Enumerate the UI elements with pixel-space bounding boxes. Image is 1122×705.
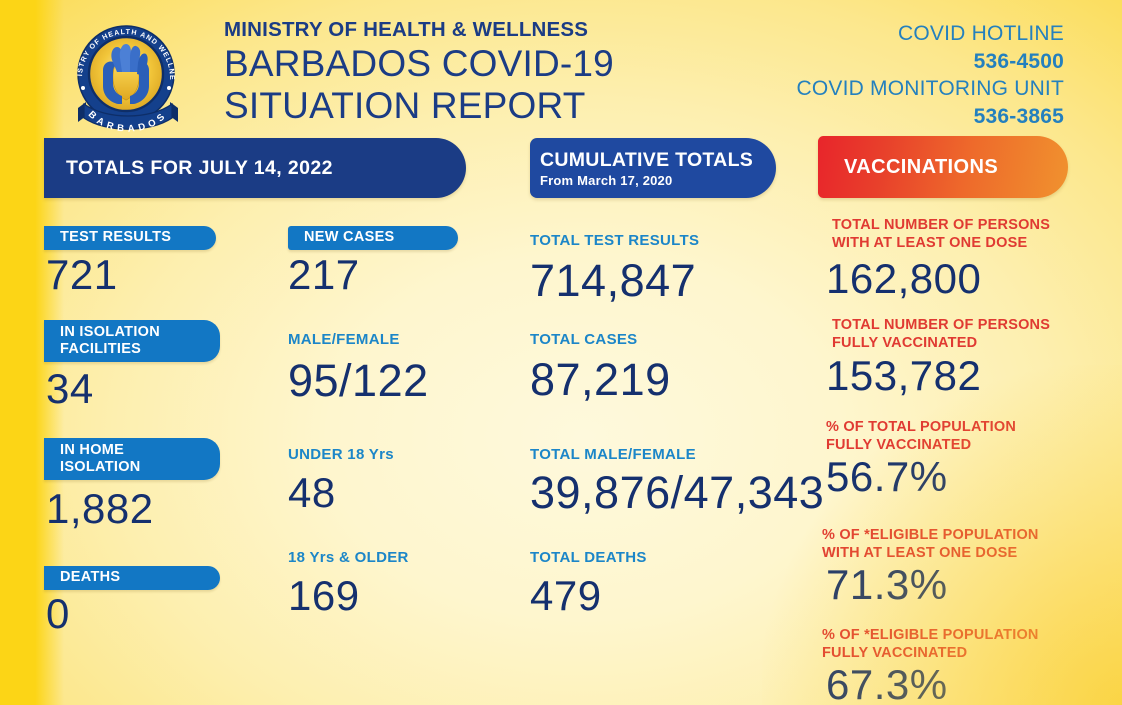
covid-hotline-number[interactable]: 536-4500 [797,48,1064,76]
stat-label-total-test-results: TOTAL TEST RESULTS [530,232,699,250]
covid-hotline-block: COVID HOTLINE 536-4500 COVID MONITORING … [797,20,1064,131]
stat-value-total-male-female: 39,876/47,343 [530,470,824,515]
stat-label-under-18: UNDER 18 Yrs [288,446,394,464]
vax-label-line-2: WITH AT LEAST ONE DOSE [832,234,1050,252]
stat-value-total-test-results: 714,847 [530,258,696,303]
banner-vaccinations: VACCINATIONS [818,136,1068,198]
ministry-name: MINISTRY OF HEALTH & WELLNESS [224,18,784,42]
stat-value-in-isolation-facilities: 34 [46,368,94,410]
stat-value-deaths: 0 [46,593,70,635]
stat-label-test-results: TEST RESULTS [44,226,216,250]
banner-vaccinations-label: VACCINATIONS [844,156,998,179]
stat-label-total-cases: TOTAL CASES [530,331,637,349]
vax-label-line-2: WITH AT LEAST ONE DOSE [822,544,1039,562]
stat-label-18-and-older: 18 Yrs & OLDER [288,549,409,567]
vax-label-line-2: FULLY VACCINATED [832,334,1050,352]
covid-hotline-label: COVID HOTLINE [797,20,1064,48]
stat-value-total-cases: 87,219 [530,357,671,402]
stat-label-new-cases: NEW CASES [288,226,458,250]
vax-label-pct-eligible-fully: % OF *ELIGIBLE POPULATION FULLY VACCINAT… [822,626,1039,662]
stat-label-text-line-2: FACILITIES [60,341,206,358]
vax-label-line-1: % OF *ELIGIBLE POPULATION [822,526,1039,544]
stat-label-text-line-2: ISOLATION [60,459,206,476]
vax-value-pct-eligible-fully: 67.3% [826,664,948,705]
page-title-line-2: SITUATION REPORT [224,85,784,126]
header-titles: MINISTRY OF HEALTH & WELLNESS BARBADOS C… [224,18,784,126]
stat-label-text: TEST RESULTS [60,229,202,246]
banner-cumulative-totals: CUMULATIVE TOTALS From March 17, 2020 [530,138,776,198]
vax-value-pct-total-population-fully: 56.7% [826,456,948,498]
vax-label-pct-eligible-one-dose: % OF *ELIGIBLE POPULATION WITH AT LEAST … [822,526,1039,562]
stat-value-test-results: 721 [46,254,118,296]
stat-value-under-18: 48 [288,472,336,514]
stat-label-total-deaths: TOTAL DEATHS [530,549,647,567]
page-title-line-1: BARBADOS COVID-19 [224,43,784,84]
vax-label-line-2: FULLY VACCINATED [822,644,1039,662]
stat-value-total-deaths: 479 [530,575,602,617]
stat-label-text-line-1: IN ISOLATION [60,324,206,341]
covid-situation-report-poster: MINISTRY OF HEALTH AND WELLNESS BARBADOS [0,0,1122,705]
stat-value-in-home-isolation: 1,882 [46,488,154,530]
stat-value-male-female: 95/122 [288,358,429,403]
banner-daily-totals-label: TOTALS FOR JULY 14, 2022 [66,157,333,180]
stat-label-in-isolation-facilities: IN ISOLATION FACILITIES [44,320,220,362]
vax-label-line-2: FULLY VACCINATED [826,436,1016,454]
vax-label-at-least-one-dose: TOTAL NUMBER OF PERSONS WITH AT LEAST ON… [832,216,1050,252]
stat-value-18-and-older: 169 [288,575,360,617]
covid-monitoring-unit-label: COVID MONITORING UNIT [797,75,1064,103]
banner-daily-totals: TOTALS FOR JULY 14, 2022 [44,138,466,198]
ministry-of-health-logo: MINISTRY OF HEALTH AND WELLNESS BARBADOS [62,16,194,140]
stat-label-text: NEW CASES [304,229,444,246]
vax-label-line-1: % OF *ELIGIBLE POPULATION [822,626,1039,644]
banner-cumulative-title: CUMULATIVE TOTALS [540,149,753,172]
stat-label-male-female: MALE/FEMALE [288,331,400,349]
stat-label-text-line-1: IN HOME [60,442,206,459]
stat-label-deaths: DEATHS [44,566,220,590]
vax-label-fully-vaccinated: TOTAL NUMBER OF PERSONS FULLY VACCINATED [832,316,1050,352]
stat-value-new-cases: 217 [288,254,360,296]
banner-cumulative-subtitle: From March 17, 2020 [540,173,672,188]
vax-label-line-1: % OF TOTAL POPULATION [826,418,1016,436]
vax-value-fully-vaccinated: 153,782 [826,355,981,397]
stat-label-in-home-isolation: IN HOME ISOLATION [44,438,220,480]
stat-label-text: DEATHS [60,569,206,586]
covid-monitoring-unit-number[interactable]: 536-3865 [797,103,1064,131]
vax-label-line-1: TOTAL NUMBER OF PERSONS [832,316,1050,334]
vax-label-pct-total-population-fully: % OF TOTAL POPULATION FULLY VACCINATED [826,418,1016,454]
vax-value-pct-eligible-one-dose: 71.3% [826,564,948,606]
stat-label-total-male-female: TOTAL MALE/FEMALE [530,446,696,464]
vax-value-at-least-one-dose: 162,800 [826,258,981,300]
vax-label-line-1: TOTAL NUMBER OF PERSONS [832,216,1050,234]
